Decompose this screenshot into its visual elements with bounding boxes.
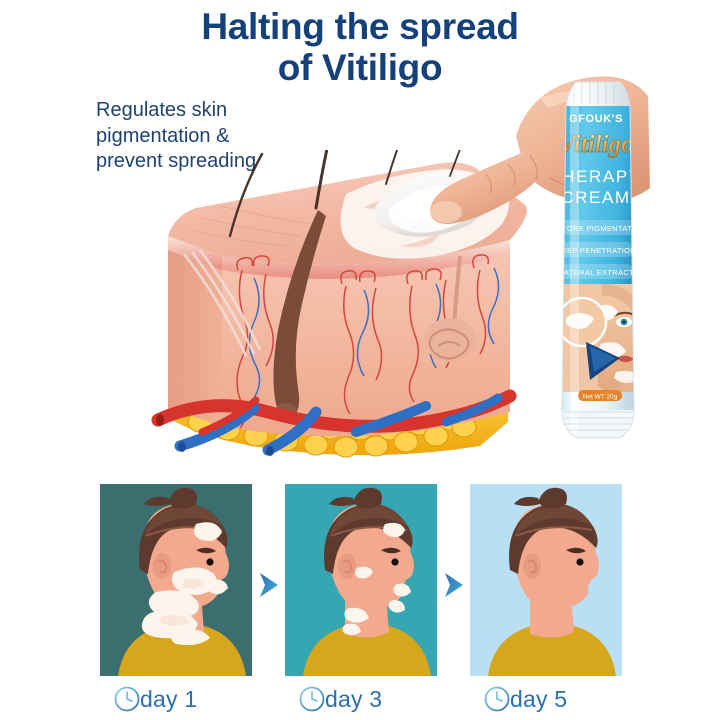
infographic-canvas: Halting the spread of Vitiligo Regulates…: [0, 0, 720, 720]
product-tube: GFOUK'S Vitiligo THERAPY CREAM RESTORE P…: [524, 60, 664, 460]
result-panel-day-5: [470, 484, 622, 676]
results-progression: severe: [0, 484, 720, 720]
tube-net-weight: Net WT 20g: [578, 390, 622, 401]
clock-icon: [112, 684, 142, 714]
svg-text:Net WT 20g: Net WT 20g: [583, 394, 618, 401]
progress-arrow-2: [443, 572, 465, 598]
tube-claims: RESTORE PIGMENTATION DEEP PENETRATION NA…: [546, 220, 646, 279]
day-label-text: day 5: [510, 686, 567, 713]
day-label-5: day 5: [482, 680, 567, 718]
progress-arrow-1: [258, 572, 280, 598]
day-label-text: day 3: [325, 686, 382, 713]
result-panel-day-3: [285, 484, 437, 676]
result-image-day-5: [470, 484, 622, 676]
tube-subtitle-1: THERAPY: [550, 167, 642, 186]
clock-icon: [297, 684, 327, 714]
headline-line-1: Halting the spread: [201, 6, 518, 47]
day-label-1: day 1: [112, 680, 197, 718]
svg-text:NATURAL EXTRACT: NATURAL EXTRACT: [558, 268, 634, 277]
tube-product-name: Vitiligo: [558, 131, 633, 158]
clock-icon: [482, 684, 512, 714]
result-image-day-1: [100, 484, 252, 676]
svg-text:DEEP PENETRATION: DEEP PENETRATION: [556, 246, 636, 255]
result-panel-day-1: severe: [100, 484, 252, 676]
day-label-text: day 1: [140, 686, 197, 713]
result-image-day-3: [285, 484, 437, 676]
day-label-3: day 3: [297, 680, 382, 718]
